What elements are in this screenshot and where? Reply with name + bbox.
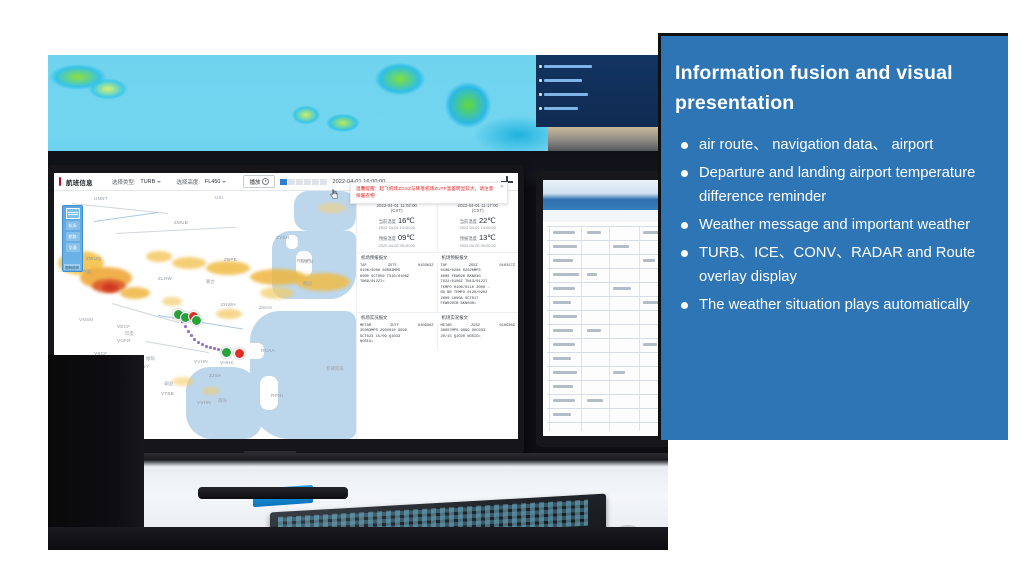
taf-line: FEW020CB BKN030= <box>441 302 516 308</box>
app-title: 航班信息 <box>66 177 93 187</box>
fir-label: ZBPE <box>224 257 237 262</box>
airport-timezone: (CST) <box>359 208 435 213</box>
place-label: 泰国 <box>164 381 173 387</box>
place-label: 蒙古 <box>206 279 215 285</box>
layer-height-select[interactable]: FL450 <box>205 179 227 185</box>
wall-side-panel <box>536 55 668 127</box>
panel-bullet: Departure and landing airport temperatur… <box>675 162 990 210</box>
route-marker-waypoint2[interactable] <box>191 315 202 326</box>
metar-title-left: 机场实况报文 <box>357 313 438 323</box>
timeline-segment[interactable] <box>320 179 327 185</box>
panel-bullet: air route、 navigation data、 airport <box>675 134 990 158</box>
temp-label: 当前温度 <box>460 219 477 225</box>
border-line <box>112 303 179 323</box>
temp2-time: 2022-04-02 05:00:00 <box>359 243 435 248</box>
route-marker-arrival-alert[interactable] <box>234 348 245 359</box>
fir-label: VVHN <box>194 359 208 364</box>
toast-message: 温馨提醒：起飞机场ZGSZ与降落机场ZUTF温差明显较大，请注意保暖衣物 <box>356 186 497 200</box>
route-point <box>205 345 208 348</box>
temp-label: 当前温度 <box>379 219 396 225</box>
route-marker-arrival[interactable] <box>221 347 232 358</box>
panel-bullet: TURB、ICE、CONV、RADAR and Route overlay di… <box>675 242 990 290</box>
chevron-down-icon <box>157 181 161 183</box>
taf-section: 机场预报报文 机场预报报文 TAF ZUTF 010302Z <box>357 252 518 312</box>
route-point <box>201 343 204 346</box>
spreadsheet-header <box>543 180 668 210</box>
metar-issued: 010930Z <box>418 324 434 330</box>
title-accent-bar <box>59 177 61 186</box>
operations-room-photo: 航班信息 选择类型: TURB 选择高度: FL450 播放 <box>48 55 668 550</box>
border-line <box>116 227 236 234</box>
sea-region <box>250 311 356 439</box>
taf-title-left: 机场预报报文 <box>357 253 438 263</box>
metar-line: NOSIG= <box>360 340 434 346</box>
route-point <box>190 334 193 337</box>
metar-title-right: 机场实况报文 <box>438 313 519 323</box>
spreadsheet-grid <box>547 226 668 436</box>
info-panel: Information fusion and visual presentati… <box>658 33 1008 440</box>
place-label: 印度 <box>125 331 134 337</box>
metar-section: 机场实况报文 机场实况报文 METAR ZUTF 010930Z <box>357 312 518 350</box>
chevron-down-icon <box>222 181 226 183</box>
place-label: 日本海 <box>300 259 313 265</box>
metar-issued: 010930Z <box>499 324 515 330</box>
timeline-segment[interactable] <box>304 179 311 185</box>
second-monitor <box>536 171 668 447</box>
temp-time: 2022-04-01 14:00:00 <box>440 225 517 230</box>
play-button[interactable]: 播放 <box>243 175 275 188</box>
fir-label: RCAA <box>261 348 275 353</box>
metar-line: 20/15 Q1020 NOSIG= <box>441 335 516 341</box>
timeline-segments[interactable] <box>280 179 327 185</box>
timeline-segment[interactable] <box>312 179 319 185</box>
route-point <box>187 330 190 333</box>
fir-label: VVHN <box>197 400 211 405</box>
metar-card-departure: METAR ZUTF 010930Z 35003MPS 290V010 9999… <box>357 323 438 350</box>
monitor-base <box>198 487 348 499</box>
place-label: 中国 <box>82 269 91 275</box>
spreadsheet-toolbar <box>543 210 668 222</box>
fir-label: VTBB <box>161 391 174 396</box>
fir-label: ZJSA <box>209 373 221 378</box>
layer-type-select[interactable]: TURB <box>140 179 161 185</box>
timeline-segment[interactable] <box>280 179 287 185</box>
fir-label: UNNT <box>94 196 108 201</box>
airport-forecast-temp-row: 预报温度 09℃ <box>359 233 435 242</box>
taf-issued: 010302Z <box>418 264 434 270</box>
fir-label: ZWUQ <box>86 256 101 261</box>
airport-current-temp-row: 当前温度 16℃ <box>359 216 435 225</box>
play-circle-icon <box>262 178 269 185</box>
taf-line: TN09/01227= <box>360 280 434 286</box>
fir-label: VNSM <box>79 317 93 322</box>
wall-lower-panel <box>548 127 668 153</box>
play-button-label: 播放 <box>249 178 260 186</box>
place-label: 菲律宾海 <box>326 366 344 372</box>
fir-label: ZMUB <box>174 220 188 225</box>
fir-label: ZYSH <box>276 235 289 240</box>
panel-title: Information fusion and visual presentati… <box>675 58 990 118</box>
temperature-warning-toast: ✕ 温馨提醒：起飞机场ZGSZ与降落机场ZUTF温差明显较大，请注意保暖衣物 <box>350 182 508 204</box>
layer-item-0[interactable]: 机场 <box>66 221 80 230</box>
fir-label: VHHK <box>220 360 234 365</box>
temp2-label: 预报温度 <box>460 236 477 242</box>
route-point <box>193 338 196 341</box>
temp-time: 2022-04-01 10:00:00 <box>359 225 435 230</box>
weather-overlay-cell <box>102 283 118 292</box>
temp2-value: 13℃ <box>479 233 496 242</box>
panel-bullet: Weather message and important weather <box>675 214 990 238</box>
taf-card-arrival: TAF ZGSZ 010317Z 0106/0206 02020MPS 6000… <box>438 263 519 312</box>
layer-height-label: 选择高度: <box>176 178 200 186</box>
timeline-segment[interactable] <box>296 179 303 185</box>
airport-forecast-temp-row: 预报温度 13℃ <box>440 233 517 242</box>
weather-overlay-cell <box>162 297 182 306</box>
temp2-time: 2022-04-02 05:00:00 <box>440 243 517 248</box>
layer-item-1[interactable]: 航路 <box>66 232 80 241</box>
timeline-segment[interactable] <box>288 179 295 185</box>
weather-overlay-cell <box>146 251 172 262</box>
taf-issued: 010317Z <box>499 264 515 270</box>
second-monitor-screen <box>543 180 668 436</box>
fir-label: VECF <box>117 324 130 329</box>
fir-label: ZLHW <box>158 276 172 281</box>
temp-value: 22℃ <box>479 216 496 225</box>
legend-label[interactable]: 图例说明 <box>64 264 80 270</box>
weather-overlay-cell <box>318 203 346 213</box>
map-layer-panel[interactable]: 机场 航路 交通 图例说明 <box>62 205 83 272</box>
weather-overlay-cell <box>172 377 194 386</box>
panel-bullet-list: air route、 navigation data、 airportDepar… <box>675 134 990 318</box>
route-point <box>197 341 200 344</box>
fir-label: UIII <box>215 195 223 200</box>
foreground-shadow-left <box>48 355 144 550</box>
metar-card-arrival: METAR ZGSZ 010930Z 36007MPS 9999 OVC033 … <box>438 323 519 350</box>
fir-label: ZSHA <box>259 305 272 310</box>
weather-overlay-cell <box>206 261 250 275</box>
airport-timezone: (CST) <box>440 208 517 213</box>
weather-overlay-cell <box>216 309 242 319</box>
river-line <box>94 212 157 222</box>
place-label: 韩国 <box>303 281 312 287</box>
route-point <box>184 325 187 328</box>
temp2-label: 预报温度 <box>379 236 396 242</box>
layer-type-value: TURB <box>140 179 155 185</box>
route-point <box>217 348 220 351</box>
close-icon[interactable]: ✕ <box>500 185 504 190</box>
flight-info-panel: 成都/天府 (ZUTF) 2022-04-01 11:02:00 (CST) 当… <box>356 191 518 439</box>
place-label: 南海 <box>218 398 227 404</box>
taf-title-right: 机场预报报文 <box>438 253 519 263</box>
weather-overlay-cell <box>172 257 206 269</box>
route-point <box>209 346 212 349</box>
layer-item-2[interactable]: 交通 <box>66 243 80 252</box>
foreground-shadow-bottom <box>48 527 668 550</box>
fir-label: ZHWH <box>221 302 236 307</box>
route-point <box>213 347 216 350</box>
airport-current-temp-row: 当前温度 22℃ <box>440 216 517 225</box>
layer-height-value: FL450 <box>205 179 221 185</box>
panel-bullet: The weather situation plays automaticall… <box>675 294 990 318</box>
weather-overlay-cell <box>202 387 220 395</box>
layer-type-label: 选择类型: <box>112 178 136 186</box>
mouse-cursor-icon <box>330 189 339 200</box>
weather-overlay-cell <box>260 287 294 299</box>
weather-overlay-cell <box>120 287 150 299</box>
fir-label: RPHI <box>271 393 283 398</box>
fir-label: VGFR <box>117 338 131 343</box>
place-label: 缅甸 <box>146 356 155 362</box>
layers-icon[interactable] <box>66 208 80 219</box>
taf-card-departure: TAF ZUTF 010302Z 0106/0206 30003MPS 6000… <box>357 263 438 312</box>
temp2-value: 09℃ <box>398 233 415 242</box>
temp-value: 16℃ <box>398 216 415 225</box>
